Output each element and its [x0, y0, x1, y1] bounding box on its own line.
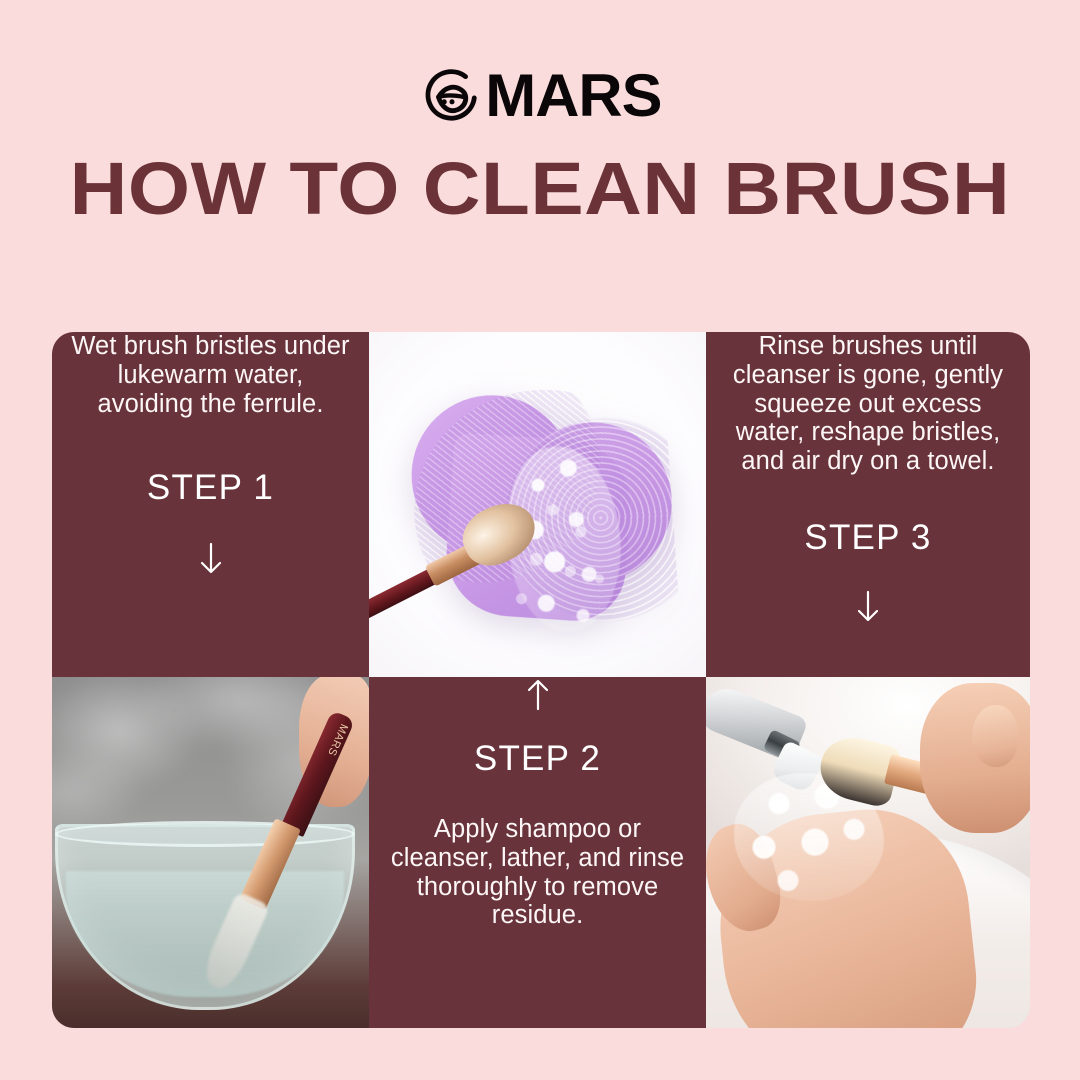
arrow-down-icon [855, 590, 881, 624]
fingers [920, 683, 1030, 833]
photo-heart-mat [369, 332, 706, 677]
step-1-label: STEP 1 [147, 468, 274, 508]
photo-water-bowl: MARS [52, 677, 369, 1028]
steps-grid: Wet brush bristles under lukewarm water,… [52, 332, 1030, 1028]
step-2-description: Apply shampoo or cleanser, lather, and r… [387, 815, 688, 930]
brand-logo: MARS [0, 64, 1080, 128]
step-1-description: Wet brush bristles under lukewarm water,… [70, 332, 351, 418]
arrow-down-icon [198, 542, 224, 576]
step-2-label: STEP 2 [474, 739, 601, 779]
page-title: HOW TO CLEAN BRUSH [0, 152, 1080, 226]
photo-faucet-rinse [706, 677, 1030, 1028]
step-3-panel: Rinse brushes until cleanser is gone, ge… [706, 332, 1030, 677]
step-3-label: STEP 3 [804, 518, 931, 558]
step-1-panel: Wet brush bristles under lukewarm water,… [52, 332, 369, 677]
step-3-description: Rinse brushes until cleanser is gone, ge… [724, 332, 1012, 476]
brand-wordmark: MARS [485, 66, 661, 126]
heart-mat-scene [369, 332, 706, 677]
arrow-up-icon [525, 677, 551, 711]
heart-silicone-mat [406, 381, 680, 638]
step-2-panel: STEP 2 Apply shampoo or cleanser, lather… [369, 677, 706, 1028]
lips-circle-logo-icon [421, 65, 483, 127]
